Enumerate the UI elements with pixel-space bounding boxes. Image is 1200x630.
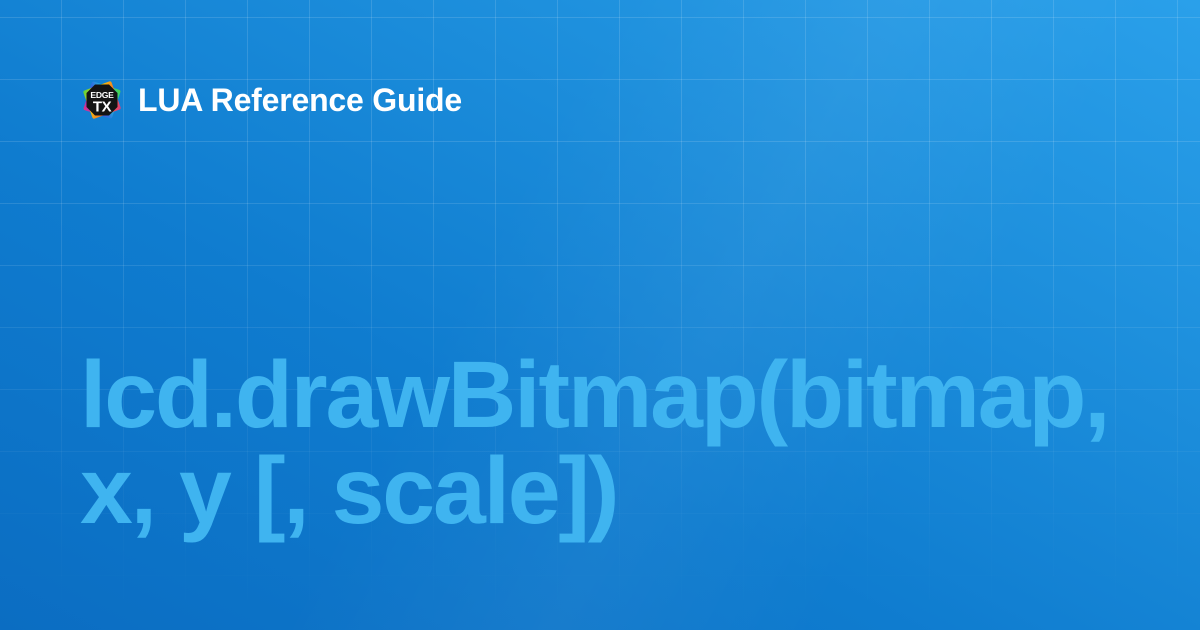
edgetx-logo[interactable]: EDGE TX	[80, 78, 124, 122]
header: EDGE TX LUA Reference Guide	[80, 78, 462, 122]
og-card: EDGE TX LUA Reference Guide lcd.drawBitm…	[0, 0, 1200, 630]
page-title: lcd.drawBitmap(bitmap, x, y [, scale])	[80, 347, 1120, 539]
brand-title: LUA Reference Guide	[138, 78, 462, 122]
logo-tx-text: TX	[93, 99, 112, 116]
